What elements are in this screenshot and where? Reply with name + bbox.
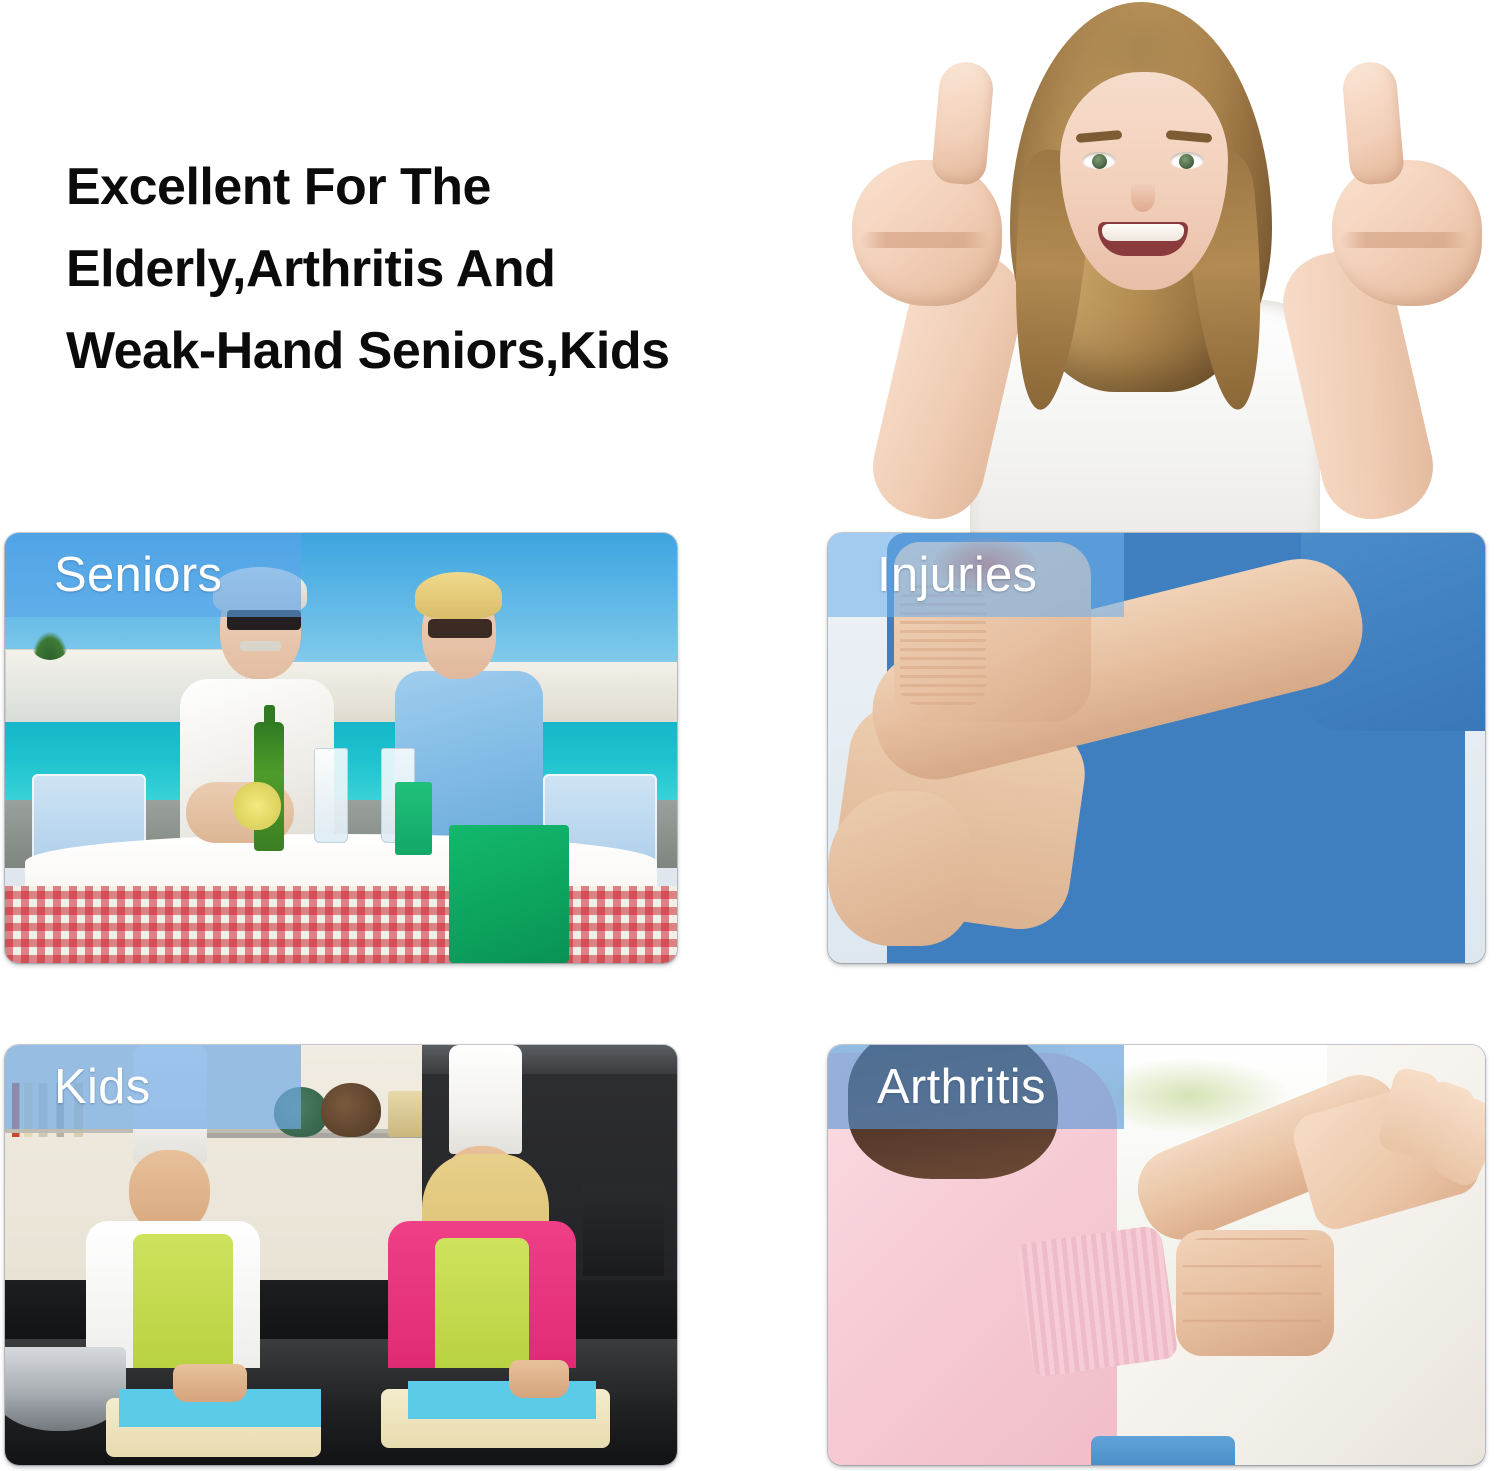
senior-man-moustache bbox=[240, 641, 280, 652]
use-case-tile-seniors: Seniors bbox=[5, 533, 677, 963]
tile-label-seniors: Seniors bbox=[5, 533, 301, 617]
headline-line-3: Weak-Hand Seniors,Kids bbox=[66, 310, 826, 392]
headline-line-1: Excellent For The bbox=[66, 146, 826, 228]
girl-hand bbox=[509, 1360, 569, 1398]
thumb-right bbox=[1341, 60, 1405, 186]
headline-block: Excellent For The Elderly,Arthritis And … bbox=[66, 146, 826, 392]
tile-label-kids: Kids bbox=[5, 1045, 301, 1129]
knuckles-left bbox=[860, 232, 990, 248]
girl-green-apron bbox=[435, 1238, 529, 1368]
headline-line-2: Elderly,Arthritis And bbox=[66, 228, 826, 310]
tile-label-text: Injuries bbox=[877, 551, 1037, 600]
sweater-cuff bbox=[1016, 1225, 1178, 1378]
red-gingham-tablecloth bbox=[5, 886, 677, 963]
green-can bbox=[395, 782, 432, 855]
bottle-label bbox=[233, 782, 280, 829]
supported-hand bbox=[828, 791, 973, 946]
girl-smile bbox=[1098, 222, 1188, 256]
gripping-fingers bbox=[1183, 1238, 1321, 1347]
tile-label-injuries: Injuries bbox=[828, 533, 1124, 617]
tile-label-text: Kids bbox=[54, 1063, 151, 1112]
girl-iris-left bbox=[1092, 154, 1107, 169]
water-glass-left bbox=[314, 748, 348, 843]
use-case-tile-kids: Kids bbox=[5, 1045, 677, 1465]
girl-teeth bbox=[1102, 224, 1184, 241]
girl-iris-right bbox=[1179, 154, 1194, 169]
senior-woman-hair bbox=[415, 572, 502, 619]
knife-block bbox=[583, 1184, 664, 1276]
tile-label-text: Arthritis bbox=[877, 1063, 1046, 1112]
girl-nose bbox=[1131, 182, 1155, 212]
tile-label-text: Seniors bbox=[54, 551, 222, 600]
brown-teapot bbox=[321, 1083, 381, 1138]
blue-jeans bbox=[1091, 1436, 1236, 1465]
use-case-tile-injuries: Injuries bbox=[828, 533, 1485, 963]
tile-label-arthritis: Arthritis bbox=[828, 1045, 1124, 1129]
knuckles-right bbox=[1340, 232, 1470, 248]
senior-woman-sunglasses bbox=[428, 619, 492, 638]
boy-green-apron bbox=[133, 1234, 234, 1368]
palm-tree bbox=[32, 632, 68, 660]
hero-photo-canvas bbox=[742, 0, 1500, 540]
boy-hands bbox=[173, 1364, 247, 1402]
thumb-left bbox=[931, 60, 995, 186]
hero-image-thumbs-up-girl bbox=[742, 0, 1500, 540]
green-shopping-bag bbox=[449, 825, 570, 963]
chef-hat-girl bbox=[449, 1045, 523, 1154]
use-case-tile-arthritis: Arthritis bbox=[828, 1045, 1485, 1465]
